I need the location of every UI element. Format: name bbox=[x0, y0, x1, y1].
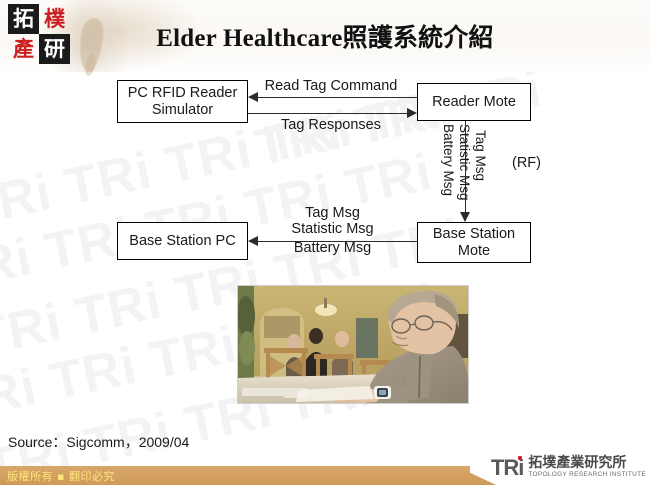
diagram-node-pc-rfid-reader-simulator[interactable]: PC RFID Reader Simulator bbox=[117, 80, 248, 123]
edge-label-read-tag-command: Read Tag Command bbox=[252, 78, 410, 94]
tri-footer-logo: TRi 拓墣產業研究所 TOPOLOGY RESEARCH INSTITUTE bbox=[491, 456, 646, 479]
edge-label-mote-to-pc-line1: Tag Msg bbox=[250, 205, 415, 221]
edge-line-tag-responses bbox=[248, 113, 407, 114]
diagram-node-reader-mote[interactable]: Reader Mote bbox=[417, 83, 531, 121]
arrow-head-down-rf-downlink bbox=[460, 212, 470, 222]
tri-brand-english: TOPOLOGY RESEARCH INSTITUTE bbox=[528, 472, 646, 479]
copyright-text: 版權所有 ▪ 翻印必究 bbox=[7, 468, 115, 484]
edge-label-tag-responses: Tag Responses bbox=[252, 117, 410, 133]
vertical-label-battery-msg: Battery Msg bbox=[441, 124, 456, 196]
tri-brand-chinese: 拓墣產業研究所 bbox=[528, 456, 646, 470]
tri-wordmark: TRi bbox=[491, 457, 523, 479]
slide-canvas: TRi TRi TRi TRi TRi TRi TRi TRi TRi TRi … bbox=[0, 0, 650, 485]
slide-footer: 版權所有 ▪ 翻印必究 TRi 拓墣產業研究所 TOPOLOGY RESEARC… bbox=[0, 466, 650, 485]
edge-line-read-tag-command bbox=[258, 97, 417, 98]
architecture-diagram: PC RFID Reader Simulator Reader Mote Bas… bbox=[0, 0, 650, 485]
tri-red-dot-icon bbox=[518, 456, 522, 460]
edge-label-mote-to-pc-line3: Battery Msg bbox=[250, 240, 415, 256]
photo-illustration bbox=[238, 286, 468, 403]
source-note: Source：Sigcomm，2009/04 bbox=[8, 432, 189, 452]
elderly-care-photo bbox=[237, 285, 469, 404]
edge-label-mote-to-pc-line2: Statistic Msg bbox=[250, 221, 415, 237]
diagram-node-base-station-pc[interactable]: Base Station PC bbox=[117, 222, 248, 260]
vertical-label-statistic-msg: Statistic Msg bbox=[457, 124, 472, 201]
arrow-head-left-read-tag-command bbox=[248, 92, 258, 102]
wrist-device bbox=[374, 386, 391, 399]
rf-annotation-label: (RF) bbox=[512, 155, 541, 171]
diagram-node-base-station-mote[interactable]: Base Station Mote bbox=[417, 222, 531, 263]
vertical-label-tag-msg: Tag Msg bbox=[473, 130, 488, 181]
